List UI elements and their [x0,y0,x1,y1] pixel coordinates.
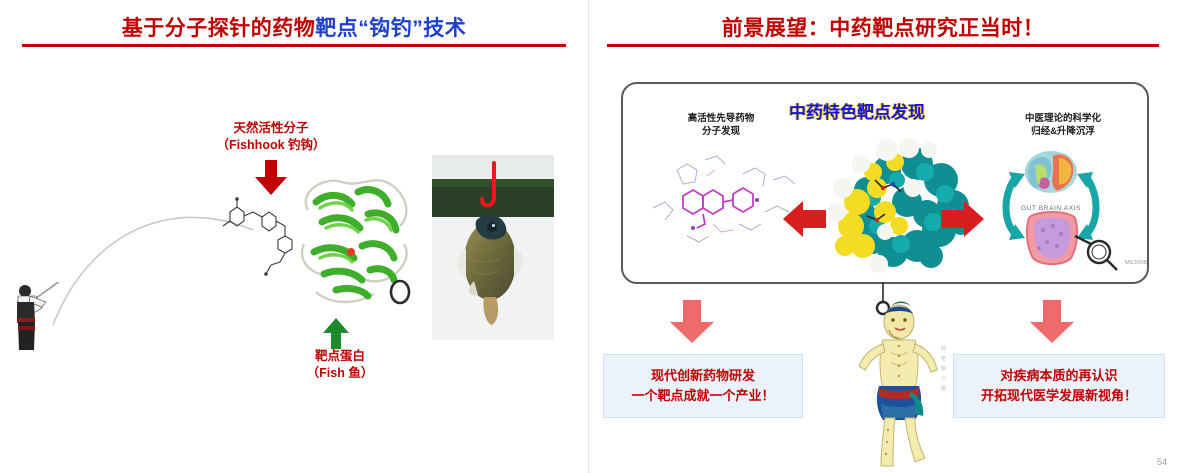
probe-label: 天然活性分子 （Fishhook 钓钩） [186,120,356,154]
brain-icon [1025,151,1077,193]
left-panel: 基于分子探针的药物靶点“钩钓”技术 天然活性分子 （Fishhook 钓钩 [0,0,588,473]
callout-right-line2: 开拓现代医学发展新视角！ [981,386,1137,406]
magnifier-label: MICROBES [1125,260,1147,266]
callout-left-line1: 现代创新药物研发 [651,366,755,386]
left-caption: 高活性先导药物 分子发现 [651,112,791,138]
left-caption-line1: 高活性先导药物 [651,112,791,125]
page-number: 54 [1157,457,1167,467]
right-panel: 前景展望：中药靶点研究正当时！ 高活性先导药物 分子发现 中药特色靶点发现 中医… [589,0,1177,473]
target-label: 靶点蛋白 （Fish 鱼） [250,348,430,382]
callout-right-line1: 对疾病本质的再认识 [1000,366,1117,386]
tcm-meridian-figure-image: 经络 腧穴 图 [857,300,953,470]
right-caption-line2: 归经&升降沉浮 [987,125,1139,138]
right-title-underline [607,44,1159,47]
svg-text:腧: 腧 [941,365,946,372]
red-right-arrow-icon [941,200,985,238]
probe-label-line1: 天然活性分子 [186,120,356,137]
left-title-blue-segment: 靶点“钩钓”技术 [315,17,466,40]
probe-label-line2: （Fishhook 钓钩） [186,137,356,154]
svg-text:络: 络 [941,355,946,362]
right-caption-line1: 中医理论的科学化 [987,112,1139,125]
callout-right[interactable]: 对疾病本质的再认识 开拓现代医学发展新视角！ [953,354,1165,418]
red-down-arrow-right-icon [1029,300,1075,344]
svg-text:图: 图 [941,386,946,392]
left-title-red-segment: 基于分子探针的药物 [122,17,316,40]
intestine-icon [1027,212,1077,264]
red-down-arrow-left-icon [669,300,715,344]
callout-left[interactable]: 现代创新药物研发 一个靶点成就一个产业！ [603,354,803,418]
fish-on-hook-photo [432,155,554,340]
target-label-line1: 靶点蛋白 [250,348,430,365]
left-panel-title: 基于分子探针的药物靶点“钩钓”技术 [0,12,588,42]
left-title-underline [22,44,566,47]
svg-text:经: 经 [941,345,946,352]
right-caption: 中医理论的科学化 归经&升降沉浮 [987,112,1139,138]
gut-brain-axis-diagram: GUT BRAIN AXIS [995,148,1147,280]
target-label-line2: （Fish 鱼） [250,365,430,382]
fisherman-silhouette-icon [8,282,64,352]
left-caption-line2: 分子发现 [651,125,791,138]
svg-text:穴: 穴 [941,375,946,382]
red-down-arrow-icon [254,160,288,196]
right-panel-title: 前景展望：中药靶点研究正当时！ [589,12,1177,42]
gut-brain-label: GUT BRAIN AXIS [1021,205,1081,212]
green-protein-ribbon-image [296,170,418,310]
slide-canvas: 基于分子探针的药物靶点“钩钓”技术 天然活性分子 （Fishhook 钓钩 [0,0,1177,473]
callout-left-line2: 一个靶点成就一个产业！ [631,386,774,406]
center-title: 中药特色靶点发现 [789,98,925,123]
green-up-arrow-icon [322,318,350,350]
